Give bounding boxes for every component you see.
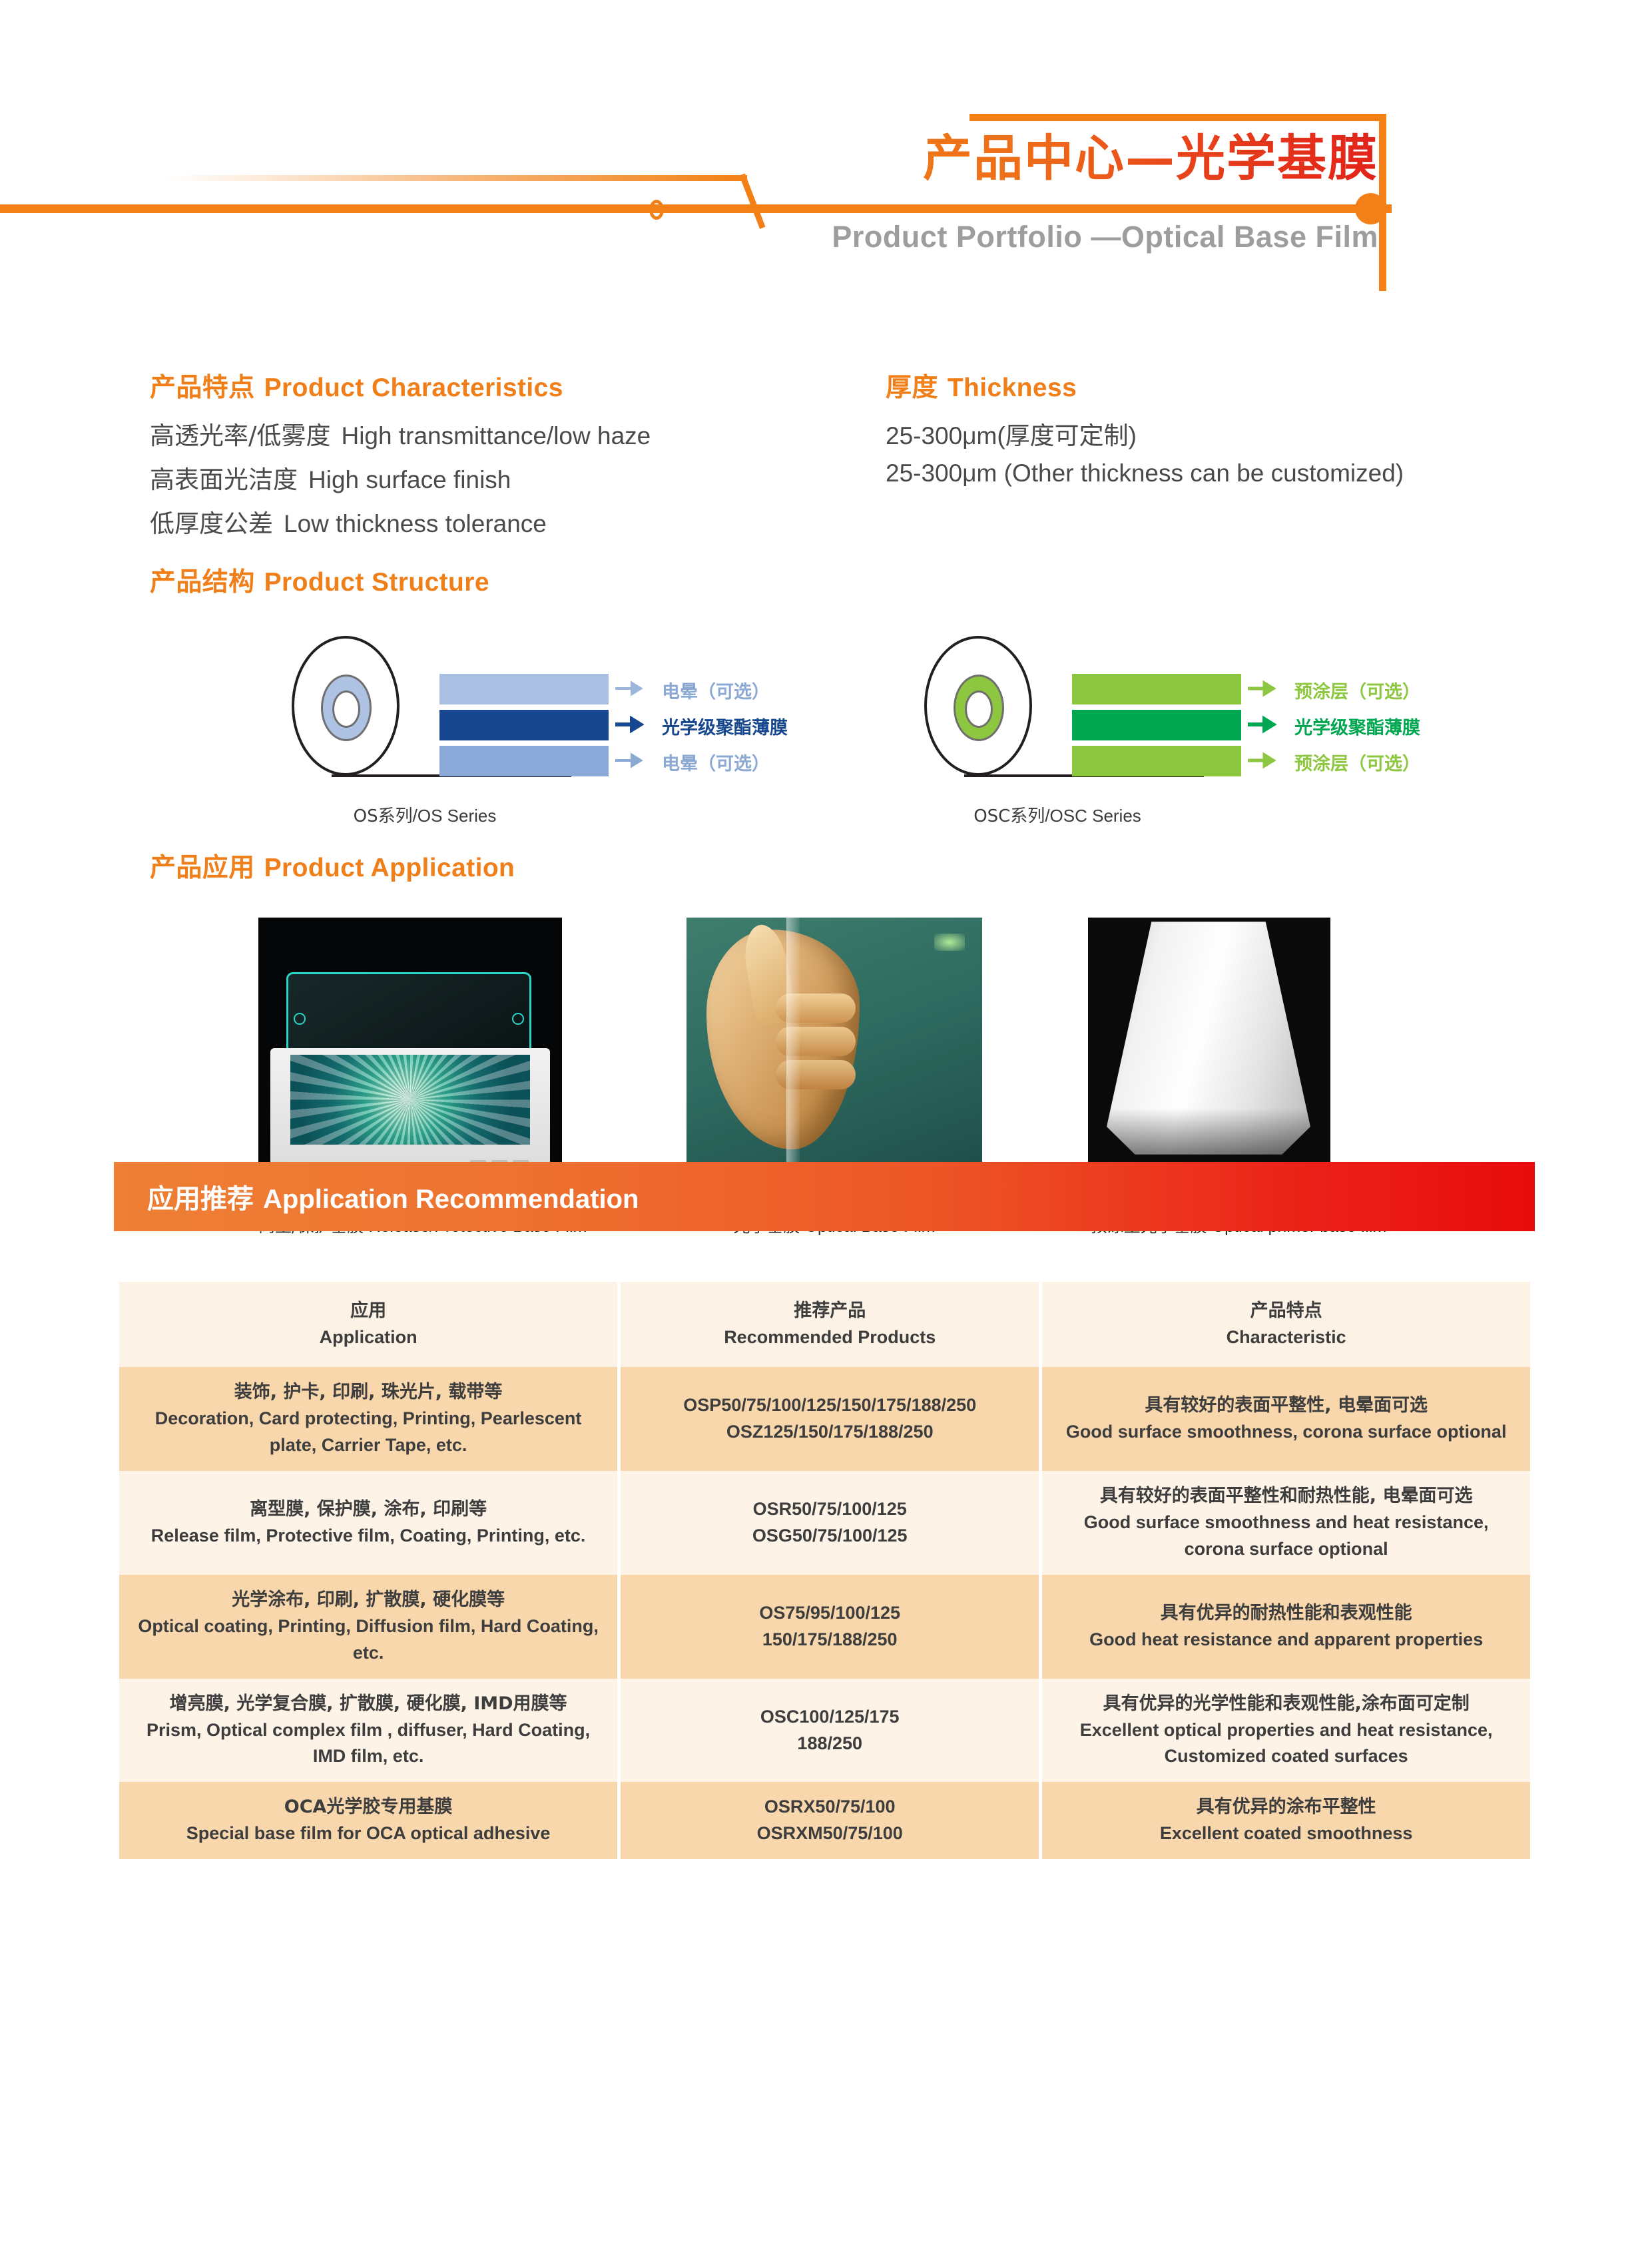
heading-en: Product Characteristics	[264, 374, 563, 402]
header-fade-line	[166, 175, 747, 181]
structure-caption-os: OS系列/OS Series	[278, 802, 571, 827]
section-heading-application: 产品应用Product Application	[150, 847, 515, 884]
thickness-line-2: 25-300μm (Other thickness can be customi…	[886, 459, 1404, 487]
cell-en: Special base film for OCA optical adhesi…	[130, 1821, 607, 1847]
col-en: Recommended Products	[631, 1324, 1028, 1351]
heading-en: Product Structure	[264, 568, 489, 597]
cell-cn: 增亮膜, 光学复合膜, 扩散膜, 硬化膜, IMD用膜等	[130, 1691, 607, 1717]
heading-en: Thickness	[948, 374, 1077, 402]
layer-label-pet-core: 光学级聚酯薄膜	[1294, 713, 1420, 739]
cell-cn: OCA光学胶专用基膜	[130, 1794, 607, 1821]
cell-cn: 离型膜, 保护膜, 涂布, 印刷等	[130, 1496, 607, 1523]
cell-products: OSC100/125/175 188/250	[621, 1679, 1039, 1783]
cell-en: Decoration, Card protecting, Printing, P…	[130, 1406, 607, 1459]
layer-corona-top	[439, 674, 609, 704]
banner-en: Application Recommendation	[263, 1185, 639, 1214]
layer-label-corona-bottom: 电晕（可选）	[662, 749, 770, 775]
cell-characteristic: 具有优异的涂布平整性 Excellent coated smoothness	[1042, 1782, 1530, 1859]
cell-cn: 装饰, 护卡, 印刷, 珠光片, 载带等	[130, 1379, 607, 1406]
brochure-page: 产品中心—光学基膜 Product Portfolio —Optical Bas…	[0, 0, 1652, 2242]
cell-en: Good surface smoothness and heat resista…	[1053, 1510, 1519, 1563]
characteristic-line-3: 低厚度公差Low thickness tolerance	[150, 503, 547, 539]
characteristic-line-2: 高表面光洁度High surface finish	[150, 459, 511, 495]
cell-application: 离型膜, 保护膜, 涂布, 印刷等 Release film, Protecti…	[119, 1471, 617, 1575]
arrow-icon-bottom	[614, 749, 653, 780]
section-heading-structure: 产品结构Product Structure	[150, 561, 489, 599]
section-heading-characteristics: 产品特点Product Characteristics	[150, 367, 563, 404]
cell-characteristic: 具有优异的光学性能和表观性能,涂布面可定制 Excellent optical …	[1042, 1679, 1530, 1783]
lens-glow	[934, 934, 965, 951]
cell-products: OSR50/75/100/125 OSG50/75/100/125	[621, 1471, 1039, 1575]
arrow-icon-bottom	[1246, 749, 1285, 780]
cell-en: Optical coating, Printing, Diffusion fil…	[130, 1613, 607, 1667]
heading-cn: 产品特点	[150, 373, 255, 403]
layer-stack-os	[439, 674, 609, 776]
table-row: 增亮膜, 光学复合膜, 扩散膜, 硬化膜, IMD用膜等 Prism, Opti…	[119, 1679, 1530, 1783]
application-photo-optical-base-film	[687, 918, 982, 1196]
arrow-icon-top	[1246, 677, 1285, 708]
film-roll-hole	[332, 691, 360, 728]
arrow-icon-top	[614, 677, 653, 708]
cell-application: 增亮膜, 光学复合膜, 扩散膜, 硬化膜, IMD用膜等 Prism, Opti…	[119, 1679, 617, 1783]
table-header: 应用 Application 推荐产品 Recommended Products…	[119, 1282, 1530, 1367]
layer-label-corona-top: 电晕（可选）	[662, 677, 770, 703]
layer-label-pet-core: 光学级聚酯薄膜	[662, 713, 788, 739]
section-heading-thickness: 厚度Thickness	[886, 367, 1077, 404]
cell-en: Prism, Optical complex film , diffuser, …	[130, 1717, 607, 1771]
layer-pet-core	[1072, 710, 1241, 740]
film-roll-hole	[965, 691, 993, 728]
characteristic-cn: 高表面光洁度	[150, 465, 298, 494]
gloved-hand	[706, 930, 860, 1149]
characteristic-cn: 高透光率/低雾度	[150, 421, 330, 450]
col-cn: 产品特点	[1053, 1298, 1519, 1324]
characteristic-cn: 低厚度公差	[150, 509, 273, 538]
arrow-icon-middle	[614, 713, 653, 744]
layer-primer-bottom	[1072, 746, 1241, 776]
film-edge-highlight	[786, 918, 800, 1196]
cell-en: Excellent coated smoothness	[1053, 1821, 1519, 1847]
layer-stack-osc	[1072, 674, 1241, 776]
layer-pet-core	[439, 710, 609, 740]
cell-characteristic: 具有较好的表面平整性和耐热性能, 电晕面可选 Good surface smoo…	[1042, 1471, 1530, 1575]
white-film-roll	[1107, 922, 1310, 1155]
cell-cn: 具有较好的表面平整性和耐热性能, 电晕面可选	[1053, 1483, 1519, 1510]
cell-application: OCA光学胶专用基膜 Special base film for OCA opt…	[119, 1782, 617, 1859]
cell-cn: 具有优异的光学性能和表观性能,涂布面可定制	[1053, 1691, 1519, 1717]
column-header-characteristic: 产品特点 Characteristic	[1042, 1282, 1530, 1367]
cell-characteristic: 具有优异的耐热性能和表观性能 Good heat resistance and …	[1042, 1575, 1530, 1679]
cell-cn: 具有优异的涂布平整性	[1053, 1794, 1519, 1821]
characteristic-en: High transmittance/low haze	[341, 422, 651, 449]
characteristic-en: Low thickness tolerance	[284, 510, 547, 537]
banner-cn: 应用推荐	[147, 1184, 254, 1215]
structure-diagram-osc: 预涂层（可选） 光学级聚酯薄膜 预涂层（可选） OSC系列/OSC Series	[924, 636, 1470, 836]
banner-label: 应用推荐Application Recommendation	[147, 1177, 639, 1216]
cell-application: 光学涂布, 印刷, 扩散膜, 硬化膜等 Optical coating, Pri…	[119, 1575, 617, 1679]
tablet-screen	[290, 1055, 530, 1145]
application-photo-release-protective	[258, 918, 562, 1196]
table-row: OCA光学胶专用基膜 Special base film for OCA opt…	[119, 1782, 1530, 1859]
cell-products: OS75/95/100/125 150/175/188/250	[621, 1575, 1039, 1679]
cell-cn: 具有优异的耐热性能和表观性能	[1053, 1600, 1519, 1627]
layer-primer-top	[1072, 674, 1241, 704]
column-header-recommended-products: 推荐产品 Recommended Products	[621, 1282, 1039, 1367]
cell-en: Excellent optical properties and heat re…	[1053, 1717, 1519, 1771]
arrow-icon-middle	[1246, 713, 1285, 744]
table-row: 装饰, 护卡, 印刷, 珠光片, 载带等 Decoration, Card pr…	[119, 1367, 1530, 1471]
cell-cn: 具有较好的表面平整性, 电晕面可选	[1053, 1392, 1519, 1419]
application-recommendation-table: 应用 Application 推荐产品 Recommended Products…	[116, 1282, 1533, 1859]
caption-cn: OSC系列	[973, 806, 1045, 826]
col-en: Characteristic	[1053, 1324, 1519, 1351]
structure-caption-osc: OSC系列/OSC Series	[911, 802, 1204, 827]
cell-application: 装饰, 护卡, 印刷, 珠光片, 载带等 Decoration, Card pr…	[119, 1367, 617, 1471]
characteristic-en: High surface finish	[308, 466, 511, 493]
col-cn: 应用	[130, 1298, 607, 1324]
page-title-cn: 产品中心—光学基膜	[806, 119, 1378, 190]
caption-en: /OSC Series	[1045, 806, 1141, 826]
cell-characteristic: 具有较好的表面平整性, 电晕面可选 Good surface smoothnes…	[1042, 1367, 1530, 1471]
header-main-rule	[0, 204, 1392, 213]
page-title-en: Product Portfolio —Optical Base Film	[666, 220, 1378, 254]
cell-products: OSRX50/75/100 OSRXM50/75/100	[621, 1782, 1039, 1859]
cell-cn: 光学涂布, 印刷, 扩散膜, 硬化膜等	[130, 1587, 607, 1613]
cell-en: Good surface smoothness, corona surface …	[1053, 1419, 1519, 1446]
cell-en: Release film, Protective film, Coating, …	[130, 1523, 607, 1549]
heading-cn: 产品应用	[150, 853, 255, 883]
thickness-line-1: 25-300μm(厚度可定制)	[886, 416, 1137, 451]
column-header-application: 应用 Application	[119, 1282, 617, 1367]
cell-products: OSP50/75/100/125/150/175/188/250 OSZ125/…	[621, 1367, 1039, 1471]
layer-label-primer-bottom: 预涂层（可选）	[1294, 749, 1420, 775]
application-photo-primer-base-film	[1088, 918, 1330, 1196]
col-cn: 推荐产品	[631, 1298, 1028, 1324]
layer-label-primer-top: 预涂层（可选）	[1294, 677, 1420, 703]
heading-cn: 产品结构	[150, 567, 255, 597]
cell-en: Good heat resistance and apparent proper…	[1053, 1627, 1519, 1653]
table-body: 装饰, 护卡, 印刷, 珠光片, 载带等 Decoration, Card pr…	[119, 1367, 1530, 1859]
heading-cn: 厚度	[886, 373, 938, 403]
table-row: 离型膜, 保护膜, 涂布, 印刷等 Release film, Protecti…	[119, 1471, 1530, 1575]
layer-corona-bottom	[439, 746, 609, 776]
page-header: 产品中心—光学基膜 Product Portfolio —Optical Bas…	[0, 0, 1652, 313]
table-header-row: 应用 Application 推荐产品 Recommended Products…	[119, 1282, 1530, 1367]
characteristic-line-1: 高透光率/低雾度High transmittance/low haze	[150, 416, 651, 451]
col-en: Application	[130, 1324, 607, 1351]
structure-diagram-os: 电晕（可选） 光学级聚酯薄膜 电晕（可选） OS系列/OS Series	[292, 636, 838, 836]
caption-en: /OS Series	[413, 806, 497, 826]
application-recommendation-banner: 应用推荐Application Recommendation	[114, 1162, 1535, 1231]
table-row: 光学涂布, 印刷, 扩散膜, 硬化膜等 Optical coating, Pri…	[119, 1575, 1530, 1679]
heading-en: Product Application	[264, 854, 515, 882]
caption-cn: OS系列	[354, 806, 413, 826]
